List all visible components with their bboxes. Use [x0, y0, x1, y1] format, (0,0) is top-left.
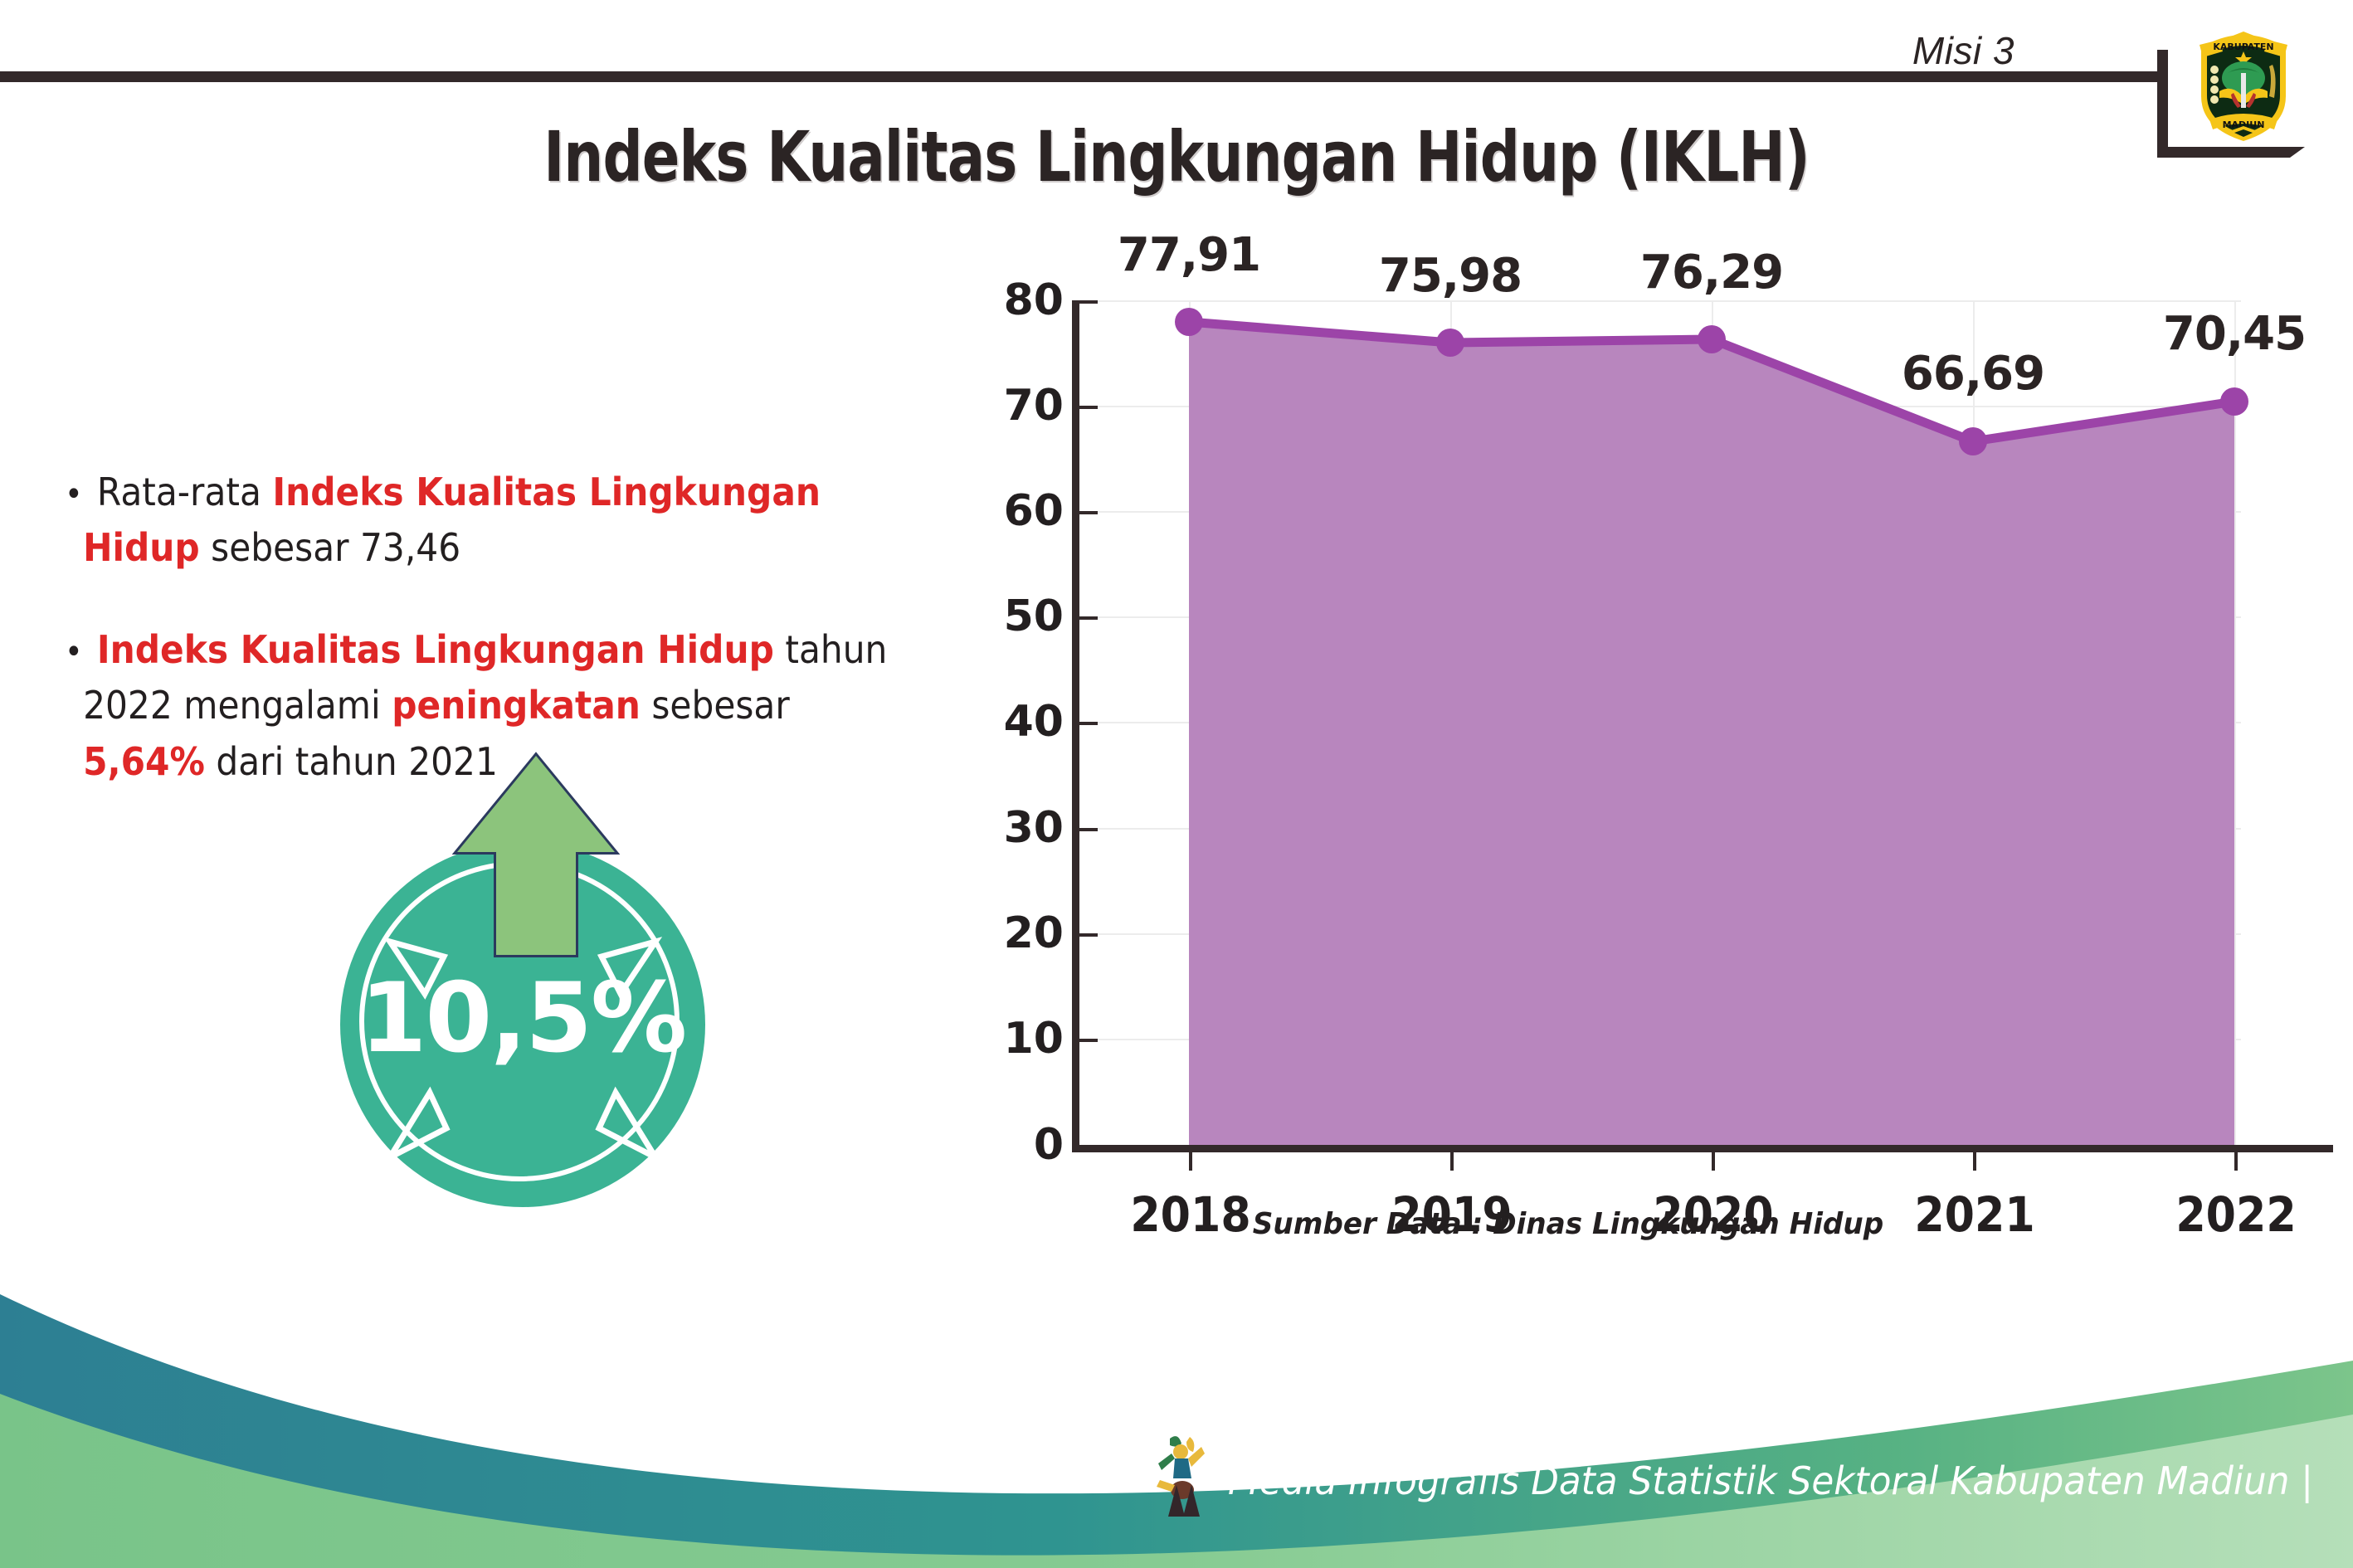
y-tick-20 — [1079, 933, 1098, 937]
y-axis-label-20: 20 — [956, 908, 1064, 958]
bullet-2-seg-4: sebesar — [641, 683, 790, 728]
footer-wave-decoration — [0, 1269, 2353, 1568]
x-axis-label-2022: 2022 — [2146, 1186, 2326, 1243]
person-raising-arm-icon — [1153, 1430, 1220, 1517]
footer-caption: Media Infografis Data Statistik Sektoral… — [1228, 1458, 2313, 1503]
badge-percentage-value: 10,5% — [340, 962, 705, 1074]
y-tick-0 — [1079, 1145, 1098, 1148]
data-label-2021: 66,69 — [1865, 347, 2081, 401]
x-axis-label-2021: 2021 — [1885, 1186, 2064, 1243]
chart-plot — [979, 282, 2307, 1178]
y-axis-label-40: 40 — [956, 697, 1064, 747]
data-label-2022: 70,45 — [2126, 307, 2342, 361]
increase-badge: 10,5% — [328, 751, 743, 1215]
y-tick-80 — [1079, 300, 1098, 304]
bullet-1-seg-1: Rata-rata — [97, 470, 273, 514]
y-axis-label-70: 70 — [956, 381, 1064, 431]
bullet-2-seg-5: 5,64% — [83, 739, 205, 784]
list-item: Rata-rata Indeks Kualitas Lingkungan Hid… — [65, 465, 912, 576]
x-tick-2021 — [1973, 1152, 1976, 1171]
x-tick-2019 — [1450, 1152, 1454, 1171]
header-rule — [0, 71, 2164, 82]
mission-label: Misi 3 — [1912, 28, 2014, 73]
y-axis-label-10: 10 — [956, 1014, 1064, 1064]
kabupaten-madiun-logo-icon: KABUPATEN MADIUN — [2195, 27, 2292, 144]
x-axis-line — [1072, 1145, 2333, 1152]
y-axis-label-80: 80 — [956, 275, 1064, 325]
y-axis-label-60: 60 — [956, 486, 1064, 536]
y-tick-30 — [1079, 828, 1098, 831]
logo-frame-bottom — [2157, 147, 2290, 158]
data-label-2019: 75,98 — [1342, 249, 1558, 303]
y-axis-label-30: 30 — [956, 803, 1064, 853]
logo-frame-vertical — [2157, 50, 2168, 158]
bullet-1-seg-3: sebesar 73,46 — [200, 525, 460, 570]
y-tick-40 — [1079, 722, 1098, 725]
bullet-2-seg-3: peningkatan — [392, 683, 641, 728]
page-title: Indeks Kualitas Lingkungan Hidup (IKLH) — [236, 116, 2118, 197]
data-label-2018: 77,91 — [1081, 228, 1297, 282]
y-tick-60 — [1079, 511, 1098, 514]
y-tick-10 — [1079, 1039, 1098, 1042]
bullet-2-seg-1: Indeks Kualitas Lingkungan Hidup — [97, 627, 774, 672]
area-fill — [1189, 322, 2234, 1145]
y-axis-label-0: 0 — [956, 1120, 1064, 1170]
x-tick-2020 — [1712, 1152, 1715, 1171]
source-caption: Sumber Data : Dinas Lingkungan Hidup — [1253, 1207, 1884, 1241]
y-tick-50 — [1079, 616, 1098, 620]
iklh-area-chart: 80 70 60 50 40 30 20 10 0 2018 2019 2020… — [979, 282, 2307, 1178]
x-tick-2018 — [1189, 1152, 1192, 1171]
y-tick-70 — [1079, 406, 1098, 409]
data-label-2020: 76,29 — [1604, 246, 1820, 299]
infographic-slide: Misi 3 KABUPATEN MADIUN — [0, 0, 2353, 1568]
svg-text:KABUPATEN: KABUPATEN — [2213, 41, 2273, 52]
x-tick-2022 — [2234, 1152, 2238, 1171]
y-axis-line — [1072, 300, 1079, 1148]
y-axis-label-50: 50 — [956, 592, 1064, 641]
